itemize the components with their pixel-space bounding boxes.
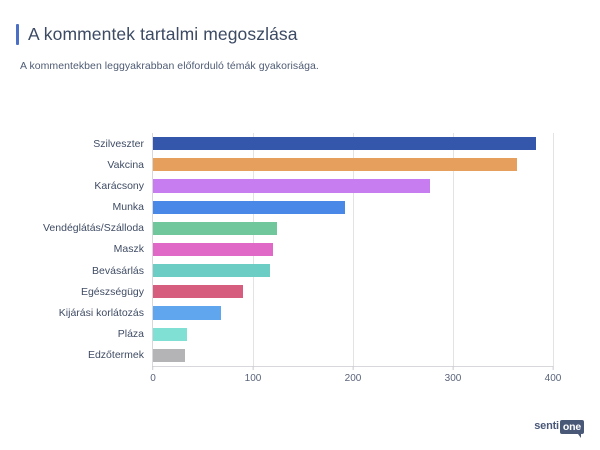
x-tick: 0 xyxy=(150,366,156,384)
x-tick-label: 0 xyxy=(150,373,156,384)
bar[interactable] xyxy=(153,243,273,256)
x-tick: 300 xyxy=(445,366,462,384)
plot-area: SzilveszterVakcinaKarácsonyMunkaVendéglá… xyxy=(153,133,553,366)
category-label: Szilveszter xyxy=(93,138,144,150)
bar-rows: SzilveszterVakcinaKarácsonyMunkaVendéglá… xyxy=(153,133,553,366)
logo-word: senti xyxy=(534,421,559,432)
x-tick: 100 xyxy=(245,366,262,384)
bar[interactable] xyxy=(153,285,243,298)
bar-row: Szilveszter xyxy=(153,137,553,150)
x-tick-mark xyxy=(553,366,554,370)
bar[interactable] xyxy=(153,201,345,214)
bar-row: Kijárási korlátozás xyxy=(153,306,553,319)
category-label: Karácsony xyxy=(94,180,144,192)
bar[interactable] xyxy=(153,349,185,362)
category-label: Bevásárlás xyxy=(92,265,144,277)
bar[interactable] xyxy=(153,137,536,150)
category-label: Vendéglátás/Szálloda xyxy=(43,222,144,234)
category-label: Maszk xyxy=(114,243,144,255)
bar[interactable] xyxy=(153,306,221,319)
x-tick: 400 xyxy=(545,366,562,384)
bar[interactable] xyxy=(153,328,187,341)
x-tick-mark xyxy=(453,366,454,370)
chart-page: A kommentek tartalmi megoszlása A kommen… xyxy=(0,0,600,450)
bar-row: Maszk xyxy=(153,243,553,256)
bar[interactable] xyxy=(153,222,277,235)
bar-row: Munka xyxy=(153,201,553,214)
logo-bubble: one xyxy=(560,420,584,435)
category-label: Pláza xyxy=(118,328,144,340)
bar[interactable] xyxy=(153,179,430,192)
bar[interactable] xyxy=(153,158,517,171)
bar-row: Egészségügy xyxy=(153,285,553,298)
bar-row: Pláza xyxy=(153,328,553,341)
x-tick-mark xyxy=(253,366,254,370)
chart-plot-wrapper: SzilveszterVakcinaKarácsonyMunkaVendéglá… xyxy=(0,0,600,450)
bar[interactable] xyxy=(153,264,270,277)
x-tick-label: 300 xyxy=(445,373,462,384)
bar-row: Bevásárlás xyxy=(153,264,553,277)
category-label: Vakcina xyxy=(107,159,144,171)
bar-row: Vakcina xyxy=(153,158,553,171)
category-label: Edzőtermek xyxy=(88,349,144,361)
bar-row: Vendéglátás/Szálloda xyxy=(153,222,553,235)
bar-row: Karácsony xyxy=(153,179,553,192)
x-tick-label: 100 xyxy=(245,373,262,384)
gridline xyxy=(553,133,554,366)
category-label: Egészségügy xyxy=(81,286,144,298)
bar-row: Edzőtermek xyxy=(153,349,553,362)
x-tick-mark xyxy=(353,366,354,370)
x-tick-label: 400 xyxy=(545,373,562,384)
sentione-logo: senti one xyxy=(534,420,584,435)
x-tick-mark xyxy=(153,366,154,370)
x-tick-label: 200 xyxy=(345,373,362,384)
x-tick: 200 xyxy=(345,366,362,384)
category-label: Kijárási korlátozás xyxy=(59,307,144,319)
category-label: Munka xyxy=(112,201,144,213)
